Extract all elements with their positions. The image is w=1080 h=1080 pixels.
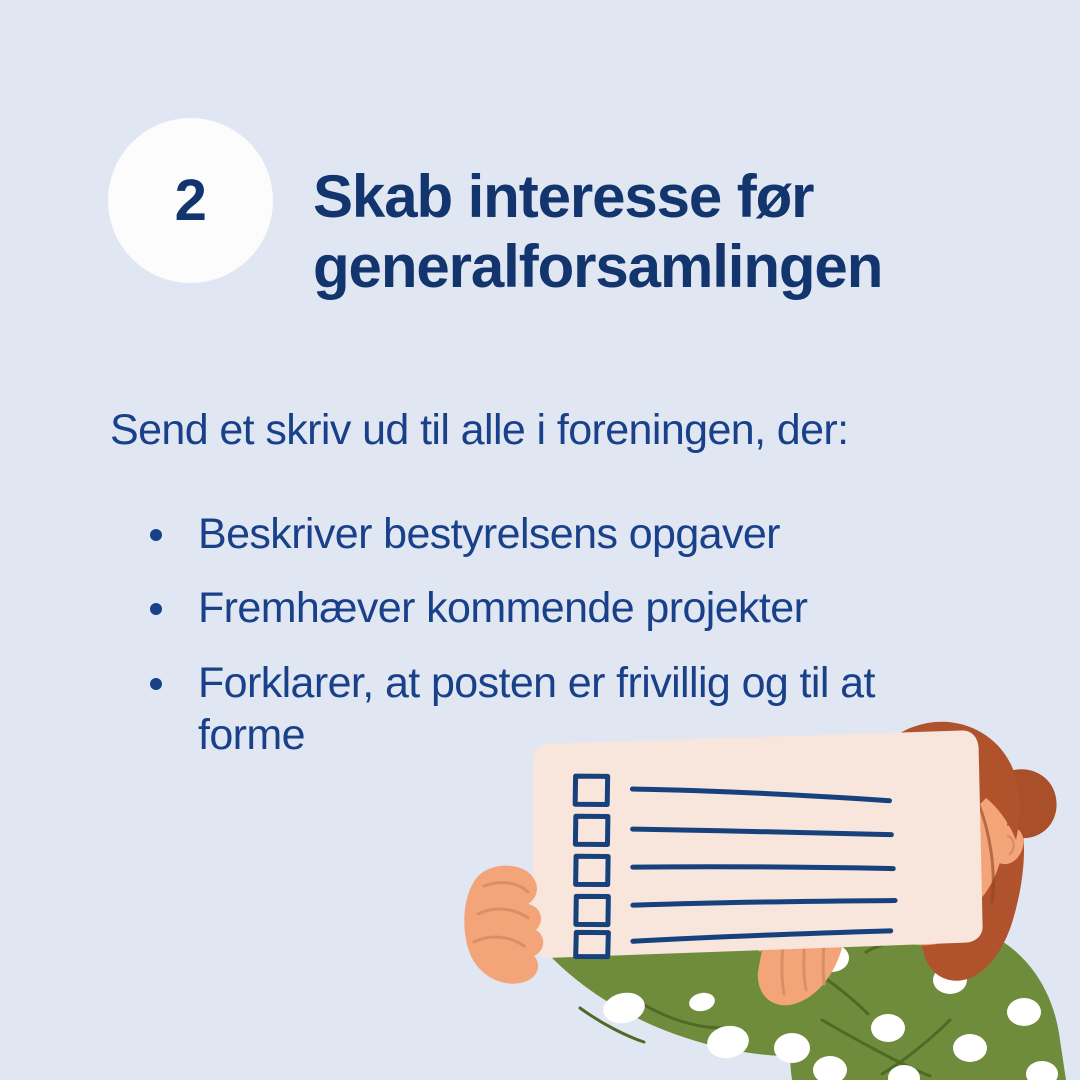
left-hand-group [464, 866, 543, 984]
checklist-paper-group [522, 720, 990, 967]
step-number-label: 2 [175, 172, 207, 230]
list-item: Fremhæver kommende projekter [140, 582, 970, 634]
bullet-dot-icon [150, 603, 162, 615]
bullet-dot-icon [150, 529, 162, 541]
list-item-label: Beskriver bestyrelsens opgaver [198, 510, 780, 558]
slide-canvas: 2 Skab interesse før generalforsamlingen… [0, 0, 1080, 1080]
slide-header: 2 Skab interesse før generalforsamlingen [0, 0, 1080, 320]
list-item-label: Fremhæver kommende projekter [198, 584, 807, 632]
page-title: Skab interesse før generalforsamlingen [313, 162, 1013, 301]
list-item: Beskriver bestyrelsens opgaver [140, 508, 970, 560]
bullet-dot-icon [150, 678, 162, 690]
illustration-woman-holding-checklist [430, 690, 1080, 1080]
step-number-badge: 2 [108, 118, 273, 283]
subtitle-text: Send et skriv ud til alle i foreningen, … [110, 405, 1010, 457]
